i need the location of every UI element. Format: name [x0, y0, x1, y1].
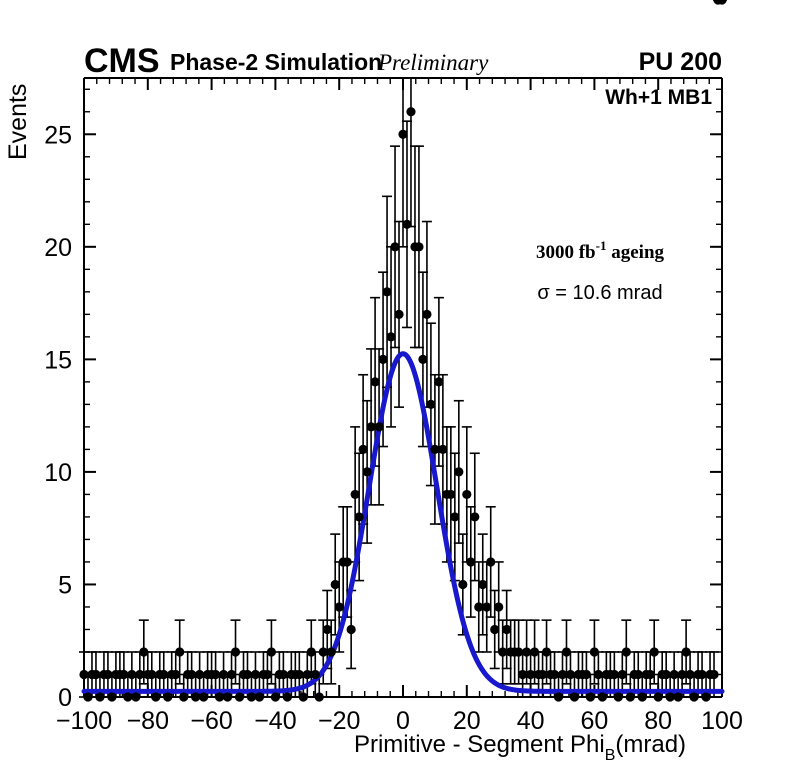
data-point: [566, 670, 575, 679]
data-point: [103, 670, 112, 679]
data-point: [598, 692, 607, 701]
data-point: [267, 647, 276, 656]
data-point: [446, 490, 455, 499]
data-point: [666, 692, 675, 701]
data-point: [646, 670, 655, 679]
data-point: [191, 692, 200, 701]
data-point: [355, 512, 364, 521]
x-tick-label: −80: [127, 707, 169, 735]
data-point: [131, 692, 140, 701]
data-point: [654, 692, 663, 701]
data-point: [378, 355, 387, 364]
data-point: [418, 355, 427, 364]
data-point: [398, 130, 407, 139]
data-point: [231, 647, 240, 656]
y-tick-label: 15: [44, 346, 72, 374]
data-point: [307, 647, 316, 656]
data-point: [626, 692, 635, 701]
data-point: [171, 670, 180, 679]
data-point: [303, 670, 312, 679]
data-point: [135, 670, 144, 679]
x-axis-title-subscript: B: [605, 747, 616, 764]
data-point: [562, 647, 571, 656]
data-point: [478, 580, 487, 589]
data-point: [295, 670, 304, 679]
data-point: [119, 670, 128, 679]
data-point: [422, 310, 431, 319]
plot-root: CMS Phase-2 Simulation Preliminary PU 20…: [0, 0, 796, 772]
data-point: [522, 647, 531, 656]
data-point: [542, 647, 551, 656]
data-point: [582, 670, 591, 679]
data-point: [438, 445, 447, 454]
data-point: [127, 670, 136, 679]
data-point: [586, 692, 595, 701]
data-point: [382, 287, 391, 296]
preliminary-label: Preliminary: [377, 50, 489, 75]
data-point: [494, 602, 503, 611]
data-point: [175, 647, 184, 656]
data-point: [139, 647, 148, 656]
data-point: [323, 625, 332, 634]
data-point: [219, 670, 228, 679]
data-point: [263, 670, 272, 679]
data-point: [335, 602, 344, 611]
ageing-lumi-value: 3000 fb: [536, 242, 596, 263]
data-point: [347, 625, 356, 634]
data-point: [315, 692, 324, 701]
data-point: [558, 670, 567, 679]
data-point: [466, 557, 475, 566]
data-point: [674, 692, 683, 701]
data-point: [526, 670, 535, 679]
data-point: [470, 512, 479, 521]
data-point: [662, 670, 671, 679]
pileup-label: PU 200: [639, 48, 722, 76]
data-point: [95, 692, 104, 701]
x-axis-title-main: Primitive - Segment Phi: [354, 731, 605, 758]
data-point: [697, 670, 706, 679]
data-point: [502, 625, 511, 634]
data-point: [331, 580, 340, 589]
data-point: [211, 670, 220, 679]
data-point: [386, 332, 395, 341]
data-point: [195, 670, 204, 679]
data-point: [227, 670, 236, 679]
y-tick-label: 25: [44, 121, 72, 149]
simulation-label: Phase-2 Simulation: [170, 49, 382, 75]
x-tick-label: −60: [190, 707, 232, 735]
data-point: [530, 647, 539, 656]
data-point: [390, 242, 399, 251]
data-point: [255, 692, 264, 701]
data-point: [650, 647, 659, 656]
data-point: [359, 445, 368, 454]
wheel-station-label: Wh+1 MB1: [605, 86, 712, 109]
data-point: [151, 692, 160, 701]
data-point: [498, 647, 507, 656]
data-point: [363, 467, 372, 476]
data-point: [618, 670, 627, 679]
data-point: [482, 602, 491, 611]
data-point: [638, 692, 647, 701]
data-point: [327, 647, 336, 656]
data-point: [251, 670, 260, 679]
data-point: [147, 670, 156, 679]
ageing-lumi-suffix: ageing: [606, 242, 664, 263]
x-tick-label: −40: [254, 707, 296, 735]
data-point: [430, 445, 439, 454]
data-point: [462, 490, 471, 499]
data-point: [79, 670, 88, 679]
y-tick-label: 20: [44, 234, 72, 262]
cms-logo-text: CMS: [84, 42, 160, 80]
data-point: [634, 670, 643, 679]
data-point: [538, 670, 547, 679]
data-point: [319, 647, 328, 656]
data-point: [367, 422, 376, 431]
data-point: [299, 692, 308, 701]
data-point: [486, 557, 495, 566]
data-point: [686, 670, 695, 679]
data-point: [434, 377, 443, 386]
data-point: [450, 512, 459, 521]
data-point: [283, 692, 292, 701]
y-axis-title: Events: [4, 84, 32, 160]
data-point: [614, 692, 623, 701]
data-point: [570, 692, 579, 701]
data-point: [159, 670, 168, 679]
data-point: [689, 692, 698, 701]
data-point: [426, 400, 435, 409]
data-point: [187, 670, 196, 679]
data-point: [554, 692, 563, 701]
data-point: [622, 647, 631, 656]
y-tick-label: 10: [44, 459, 72, 487]
data-point: [458, 580, 467, 589]
y-tick-label: 0: [58, 684, 72, 712]
data-point: [83, 692, 92, 701]
data-point: [374, 422, 383, 431]
data-point: [271, 692, 280, 701]
data-point: [311, 670, 320, 679]
data-point: [235, 692, 244, 701]
data-point: [179, 692, 188, 701]
y-tick-label: 5: [58, 571, 72, 599]
x-axis-title-unit: (mrad): [615, 731, 686, 758]
data-point: [414, 242, 423, 251]
ageing-lumi-exponent: -1: [596, 238, 607, 253]
data-point: [223, 692, 232, 701]
data-point: [402, 220, 411, 229]
data-point: [243, 670, 252, 679]
data-point: [678, 670, 687, 679]
data-point: [215, 692, 224, 701]
data-point: [163, 692, 172, 701]
data-point: [247, 692, 256, 701]
data-point: [279, 670, 288, 679]
residual-plot-canvas: CMS Phase-2 Simulation Preliminary PU 20…: [0, 0, 796, 772]
data-point: [343, 557, 352, 566]
data-point: [594, 670, 603, 679]
data-point: [394, 310, 403, 319]
data-point: [670, 670, 679, 679]
data-point: [474, 602, 483, 611]
data-point: [550, 670, 559, 679]
data-point: [91, 670, 100, 679]
data-point: [518, 670, 527, 679]
data-point: [490, 625, 499, 634]
data-point: [454, 467, 463, 476]
data-point: [590, 647, 599, 656]
data-point: [682, 647, 691, 656]
data-point: [123, 692, 132, 701]
data-point: [199, 692, 208, 701]
data-point: [701, 692, 710, 701]
data-point: [351, 490, 360, 499]
data-point: [406, 107, 415, 116]
data-point: [370, 377, 379, 386]
x-tick-label: 100: [701, 707, 743, 735]
sigma-annotation: σ = 10.6 mrad: [537, 282, 662, 304]
data-point: [610, 670, 619, 679]
data-point: [107, 692, 116, 701]
data-point: [514, 647, 523, 656]
data-point: [709, 670, 718, 679]
